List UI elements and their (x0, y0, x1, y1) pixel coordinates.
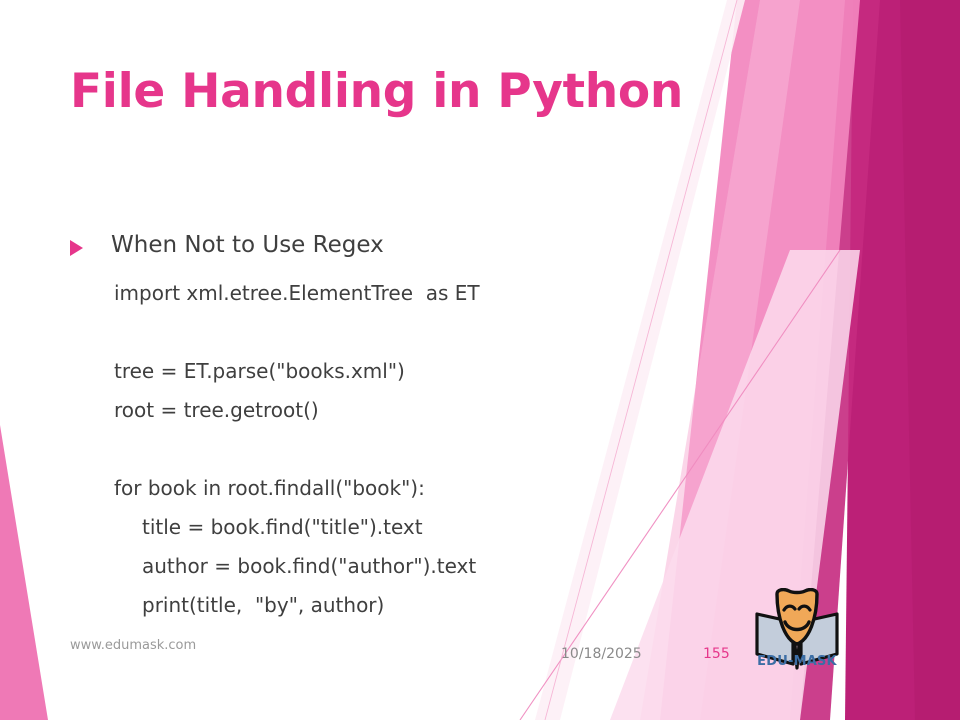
code-line-blank (114, 313, 674, 352)
footer-date: 10/18/2025 (561, 646, 642, 662)
code-line: print(title, "by", author) (114, 586, 674, 625)
slide-number: 155 (703, 646, 730, 662)
code-block: import xml.etree.ElementTree as ETtree =… (114, 274, 674, 625)
code-line: title = book.find("title").text (114, 508, 674, 547)
logo-caption: EDU-MASK (753, 654, 841, 669)
bullet-item: When Not to Use Regex (70, 231, 384, 260)
page-title: File Handling in Python (70, 66, 710, 118)
code-line-blank (114, 430, 674, 469)
slide-canvas: File Handling in Python When Not to Use … (0, 0, 960, 720)
code-line: root = tree.getroot() (114, 391, 674, 430)
code-line: for book in root.findall("book"): (114, 469, 674, 508)
code-line: tree = ET.parse("books.xml") (114, 352, 674, 391)
code-line: import xml.etree.ElementTree as ET (114, 274, 674, 313)
triangle-right-icon (70, 240, 83, 256)
footer-url: www.edumask.com (70, 638, 196, 653)
code-line: author = book.find("author").text (114, 547, 674, 586)
bullet-item-label: When Not to Use Regex (111, 231, 384, 260)
